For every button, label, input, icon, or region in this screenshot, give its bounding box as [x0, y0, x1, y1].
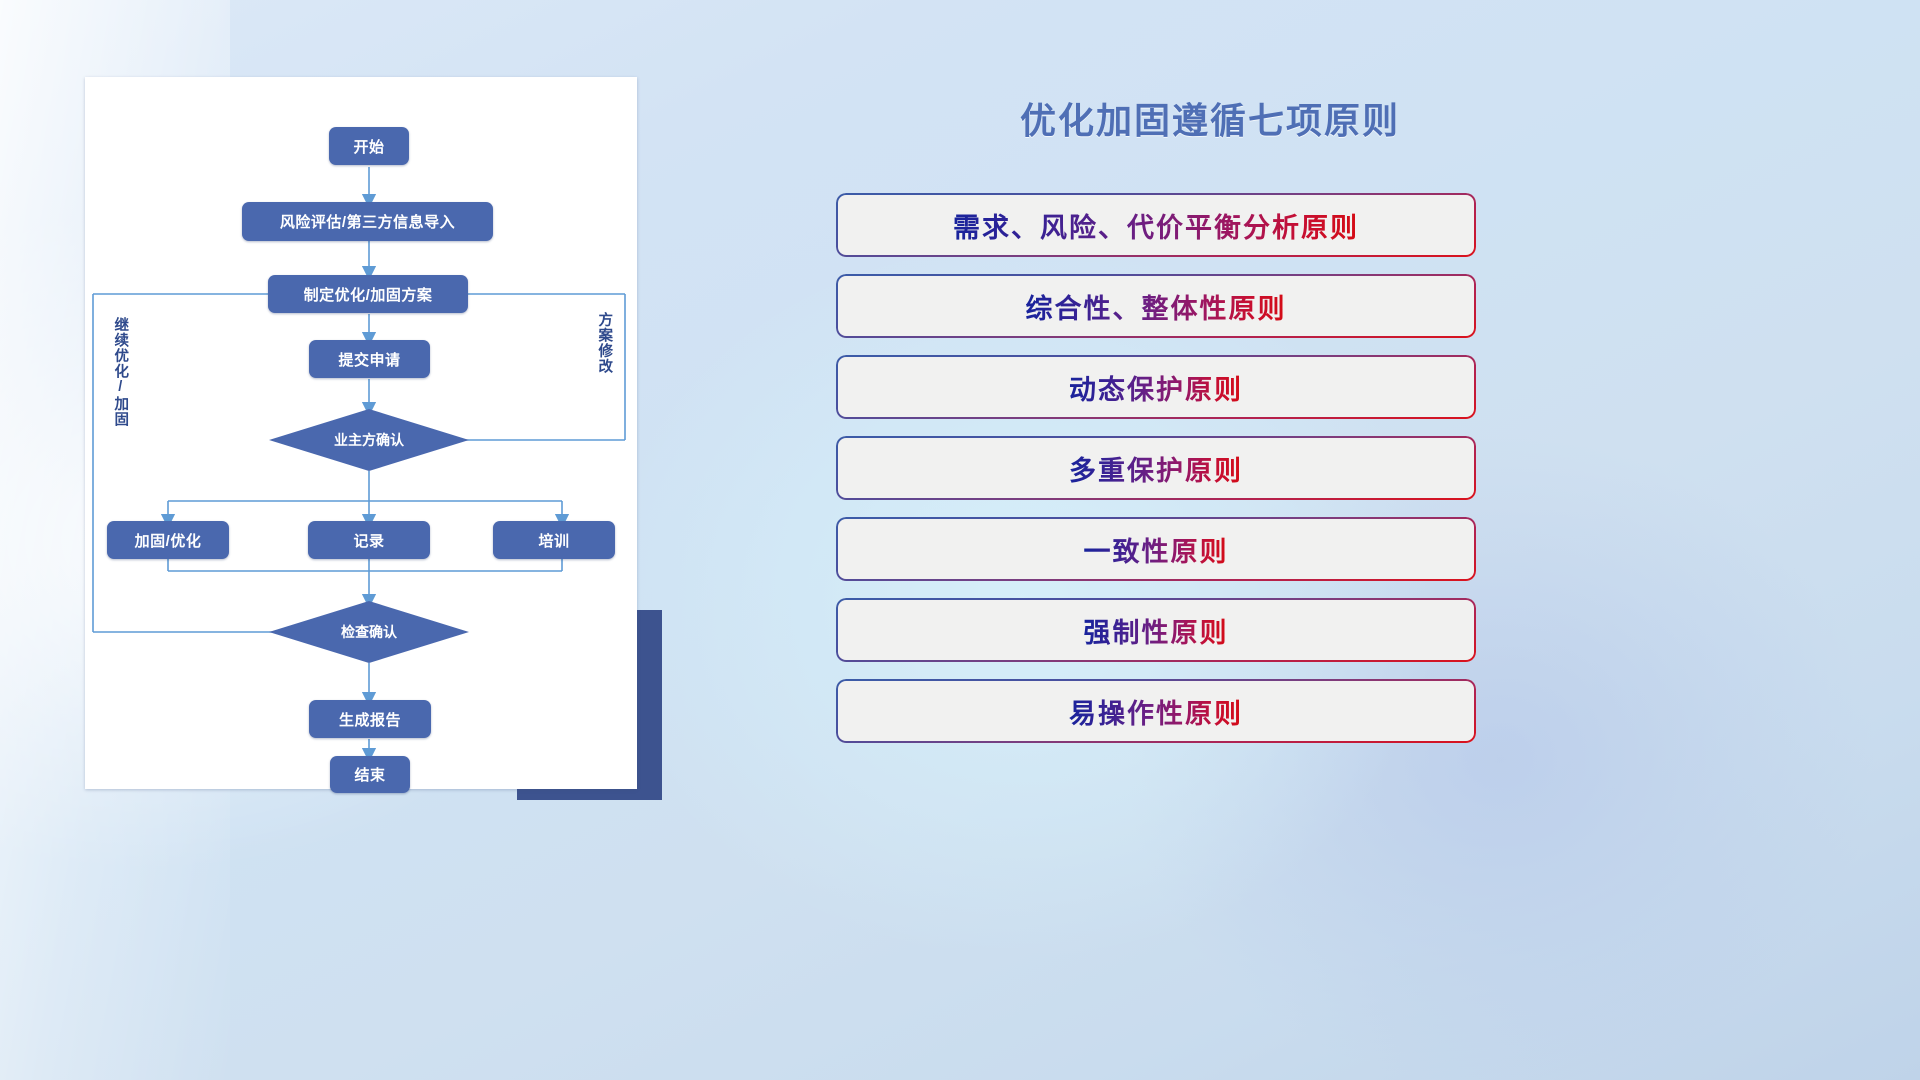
flow-node-label: 生成报告 [339, 709, 401, 730]
flow-node-reinforce[interactable]: 加固/优化 [107, 521, 229, 559]
principle-label: 易操作性原则 [1069, 692, 1243, 731]
flow-node-label: 风险评估/第三方信息导入 [280, 211, 455, 232]
flow-decision-inspection[interactable]: 检查确认 [269, 601, 469, 663]
flow-node-label: 开始 [353, 136, 384, 157]
flow-node-label: 检查确认 [269, 601, 469, 663]
flow-node-label: 记录 [353, 530, 384, 551]
flow-node-label: 制定优化/加固方案 [304, 284, 433, 305]
principle-card[interactable]: 一致性原则 [836, 517, 1476, 581]
flow-node-start[interactable]: 开始 [329, 127, 409, 165]
principle-label: 动态保护原则 [1069, 368, 1243, 407]
principle-label: 一致性原则 [1084, 530, 1229, 569]
principle-card[interactable]: 多重保护原则 [836, 436, 1476, 500]
principles-list: 需求、风险、代价平衡分析原则 综合性、整体性原则 动态保护原则 多重保护原则 一… [836, 193, 1476, 760]
flow-node-submit[interactable]: 提交申请 [309, 340, 430, 378]
principle-card[interactable]: 综合性、整体性原则 [836, 274, 1476, 338]
flow-node-plan[interactable]: 制定优化/加固方案 [268, 275, 468, 313]
flow-node-label: 提交申请 [338, 349, 400, 370]
principle-label: 综合性、整体性原则 [1026, 287, 1287, 326]
principle-card[interactable]: 易操作性原则 [836, 679, 1476, 743]
flowchart: 开始 风险评估/第三方信息导入 制定优化/加固方案 提交申请 业主方确认 加固/… [85, 77, 637, 789]
edge-label-plan-revision: 方案修改 [596, 312, 612, 402]
edge-label-continue-optimize: 继续优化/加固 [112, 317, 128, 452]
principle-card[interactable]: 强制性原则 [836, 598, 1476, 662]
panel-title: 优化加固遵循七项原则 [940, 92, 1480, 144]
flow-node-label: 加固/优化 [135, 530, 202, 551]
principle-label: 需求、风险、代价平衡分析原则 [953, 206, 1359, 245]
flow-node-label: 业主方确认 [269, 409, 469, 471]
principle-label: 强制性原则 [1084, 611, 1229, 650]
flow-node-report[interactable]: 生成报告 [309, 700, 431, 738]
principle-card[interactable]: 需求、风险、代价平衡分析原则 [836, 193, 1476, 257]
flowchart-panel: 开始 风险评估/第三方信息导入 制定优化/加固方案 提交申请 业主方确认 加固/… [85, 77, 637, 789]
principle-label: 多重保护原则 [1069, 449, 1243, 488]
flow-node-training[interactable]: 培训 [493, 521, 615, 559]
slide-root: 开始 风险评估/第三方信息导入 制定优化/加固方案 提交申请 业主方确认 加固/… [0, 0, 1920, 1080]
flow-node-risk-assessment[interactable]: 风险评估/第三方信息导入 [242, 202, 493, 241]
flow-node-record[interactable]: 记录 [308, 521, 430, 559]
flow-decision-owner-confirm[interactable]: 业主方确认 [269, 409, 469, 471]
flow-node-label: 培训 [538, 530, 569, 551]
flow-node-end[interactable]: 结束 [330, 756, 410, 793]
flow-node-label: 结束 [354, 764, 385, 785]
principle-card[interactable]: 动态保护原则 [836, 355, 1476, 419]
